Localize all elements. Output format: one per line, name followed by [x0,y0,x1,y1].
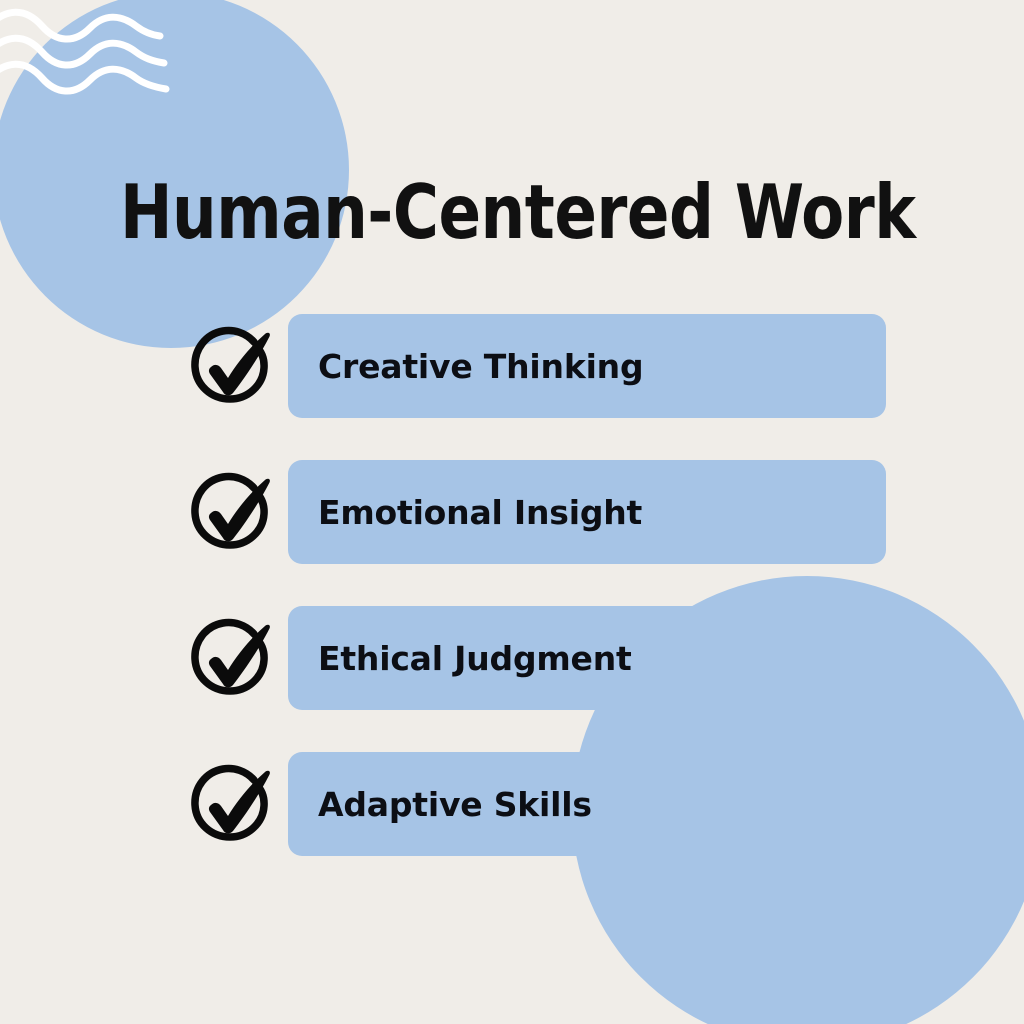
checklist-pill[interactable]: Emotional Insight [288,460,886,564]
list-item[interactable]: Adaptive Skills [186,752,886,856]
wavy-lines-icon [0,4,194,94]
list-item[interactable]: Emotional Insight [186,460,886,564]
check-circle-icon [186,610,282,706]
page-title: Human-Centered Work [120,170,920,254]
check-circle-icon [186,464,282,560]
checklist: Creative Thinking Emotional Insight Ethi… [186,314,886,856]
list-item-label: Emotional Insight [318,493,642,532]
list-item[interactable]: Creative Thinking [186,314,886,418]
check-circle-icon [186,318,282,414]
checklist-pill[interactable]: Creative Thinking [288,314,886,418]
check-circle-icon [186,756,282,852]
list-item-label: Creative Thinking [318,347,643,386]
checklist-pill[interactable]: Adaptive Skills [288,752,886,856]
checklist-pill[interactable]: Ethical Judgment [288,606,886,710]
list-item-label: Adaptive Skills [318,785,592,824]
list-item-label: Ethical Judgment [318,639,632,678]
poster-canvas: Human-Centered Work Creative Thinking Em… [0,0,1024,1024]
list-item[interactable]: Ethical Judgment [186,606,886,710]
